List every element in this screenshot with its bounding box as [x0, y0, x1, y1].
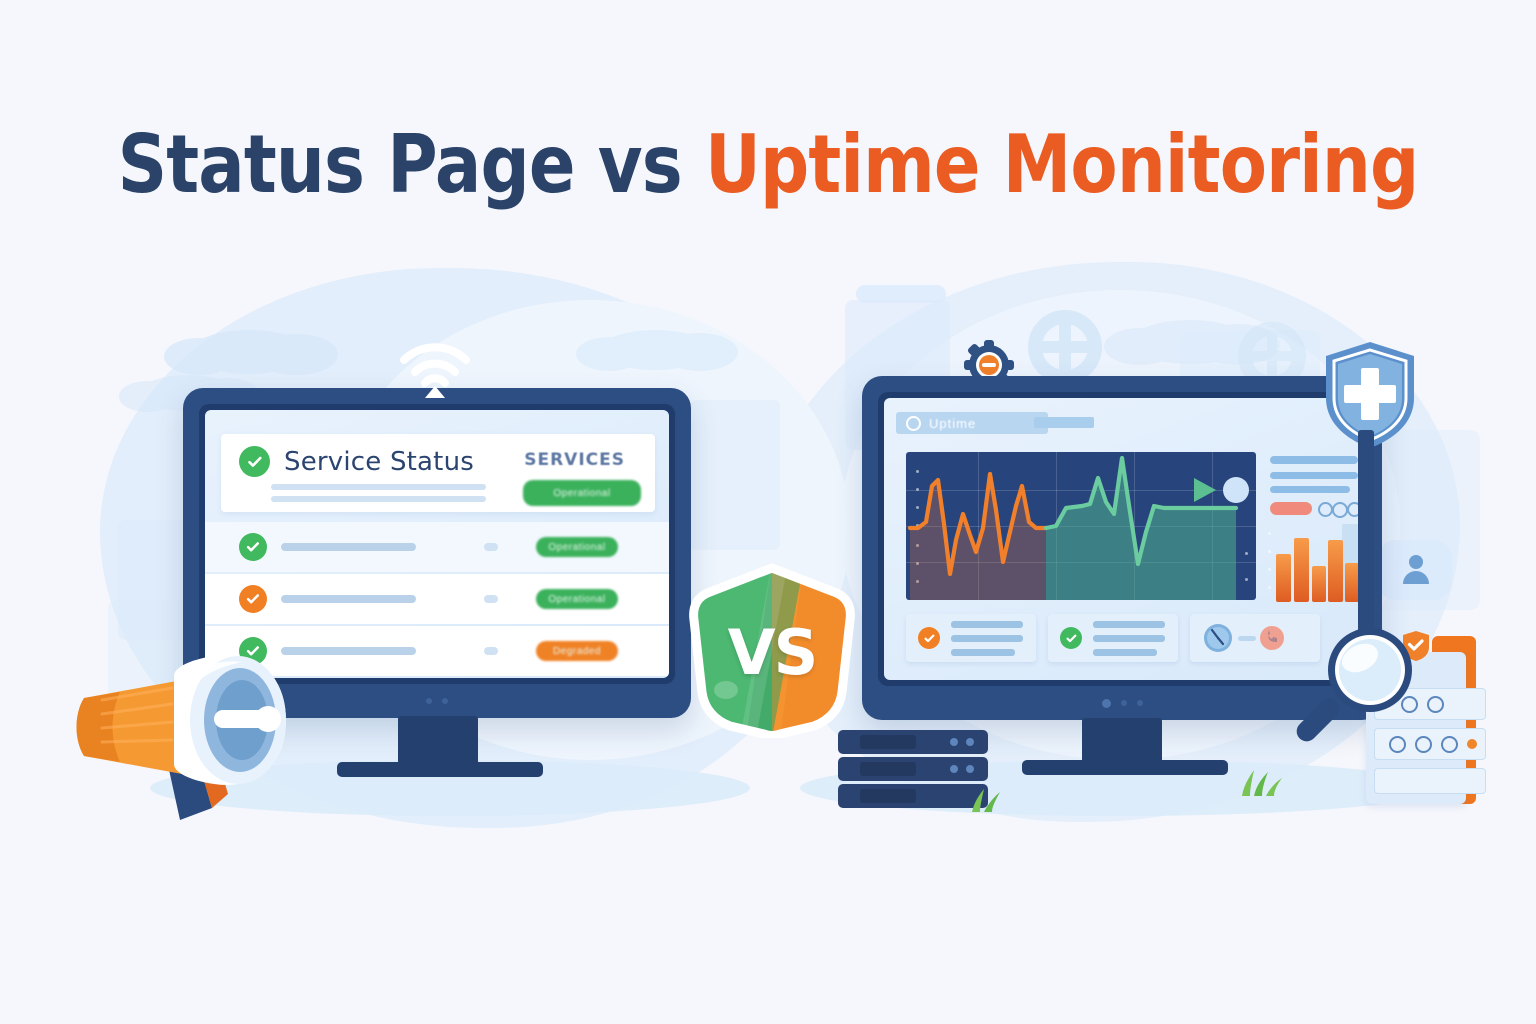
status-badge[interactable]: Operational [536, 589, 618, 609]
bar-tick [1268, 532, 1271, 535]
bar-item [1328, 540, 1343, 602]
info-line [951, 635, 1023, 642]
rack-ring-icon [1441, 736, 1458, 753]
row-skeleton-label [281, 595, 416, 603]
wifi-icon [396, 340, 474, 398]
cloud-decor-1 [190, 330, 308, 374]
vs-badge-label: VS [684, 564, 860, 740]
bar-item [1312, 566, 1326, 602]
chin-dot [1121, 700, 1127, 706]
server-led [966, 765, 974, 773]
bar-item [1276, 554, 1291, 602]
decor-rect-5 [856, 285, 946, 303]
check-circle-icon [239, 446, 270, 477]
info-line [951, 621, 1023, 628]
header-skeleton-line-1 [271, 484, 486, 490]
chart-series-svg [906, 452, 1256, 600]
header-status-badge[interactable]: Operational [523, 480, 641, 506]
megaphone-icon [62, 628, 322, 823]
server-face [860, 762, 916, 776]
info-card[interactable] [1048, 614, 1178, 662]
status-header-card: Service Status SERVICES Operational [221, 434, 655, 512]
user-icon [1400, 552, 1432, 586]
phone-icon [1258, 624, 1286, 652]
chart-side-panel [1268, 454, 1360, 604]
table-row[interactable]: Operational [205, 574, 669, 624]
info-line [1093, 621, 1165, 628]
monitor-stand-neck-right [1082, 718, 1162, 766]
status-header: Service Status [239, 446, 474, 477]
url-text: Uptime [929, 416, 976, 431]
monitor-stand-base-right [1022, 760, 1228, 775]
table-row[interactable]: Operational [205, 522, 669, 572]
row-skeleton-meta [484, 595, 498, 603]
status-badge[interactable]: Degraded [536, 641, 618, 661]
title-part-vs: vs [575, 118, 705, 211]
check-circle-icon [239, 585, 267, 613]
side-skeleton-line [1270, 456, 1358, 464]
url-dot-icon [906, 416, 921, 431]
info-line [951, 649, 1015, 656]
side-skeleton-line [1270, 472, 1358, 479]
side-skeleton-line [1270, 486, 1350, 493]
info-line [1093, 635, 1165, 642]
response-time-chart [906, 452, 1256, 600]
monitor-stand-neck-left [398, 716, 478, 768]
row-skeleton-label [281, 543, 416, 551]
gear-decor-icon [1028, 310, 1102, 384]
url-bar-ghost [1034, 417, 1094, 428]
row-skeleton-meta [484, 647, 498, 655]
server-led [966, 738, 974, 746]
server-led [950, 738, 958, 746]
server-unit [838, 730, 988, 754]
status-badge[interactable]: Operational [536, 537, 618, 557]
gauge-icon [1202, 622, 1234, 654]
decor-rect-3 [690, 400, 780, 550]
rack-row [1374, 768, 1486, 794]
grass-decor [1236, 766, 1284, 796]
gauge-connector [1238, 636, 1256, 641]
info-line [1093, 649, 1157, 656]
cloud-decor-3 [600, 330, 710, 370]
side-ring-icon [1318, 502, 1333, 517]
status-brand-label: SERVICES [524, 450, 625, 470]
server-led [950, 765, 958, 773]
vs-badge: VS [684, 562, 860, 738]
server-unit [838, 784, 988, 808]
grass-decor [968, 786, 1012, 812]
browser-url-bar[interactable]: Uptime [896, 412, 1048, 434]
bar-tick [1268, 586, 1271, 589]
bar-item [1345, 563, 1359, 602]
rack-ring-icon [1427, 696, 1444, 713]
chin-dot [426, 698, 432, 704]
server-face [860, 789, 916, 803]
header-skeleton-line-2 [271, 496, 486, 502]
info-card-lines [951, 621, 1023, 656]
rack-status-dot [1467, 739, 1477, 749]
bar-tick [1268, 568, 1271, 571]
server-unit [838, 757, 988, 781]
check-circle-icon [1060, 627, 1082, 649]
row-skeleton-meta [484, 543, 498, 551]
bar-tick [1268, 550, 1271, 553]
info-card-lines [1093, 621, 1165, 656]
check-circle-icon [239, 533, 267, 561]
info-card[interactable] [906, 614, 1036, 662]
illustration-canvas: Status Page vs Uptime Monitoring [0, 0, 1536, 1024]
bar-item [1294, 538, 1309, 602]
chin-dot [1102, 699, 1111, 708]
chin-dot [1137, 700, 1143, 706]
page-title: Status Page vs Uptime Monitoring [108, 118, 1429, 211]
side-ring-icon [1332, 502, 1348, 518]
monitor-stand-base-left [337, 762, 543, 777]
server-face [860, 735, 916, 749]
title-part-uptime-monitoring: Uptime Monitoring [705, 118, 1418, 211]
magnifying-glass-icon [1286, 618, 1426, 758]
title-part-status-page: Status Page [118, 118, 575, 211]
chin-dot [442, 698, 448, 704]
side-salmon-bar [1270, 502, 1312, 515]
status-page-title: Service Status [284, 447, 474, 477]
check-circle-icon [918, 627, 940, 649]
